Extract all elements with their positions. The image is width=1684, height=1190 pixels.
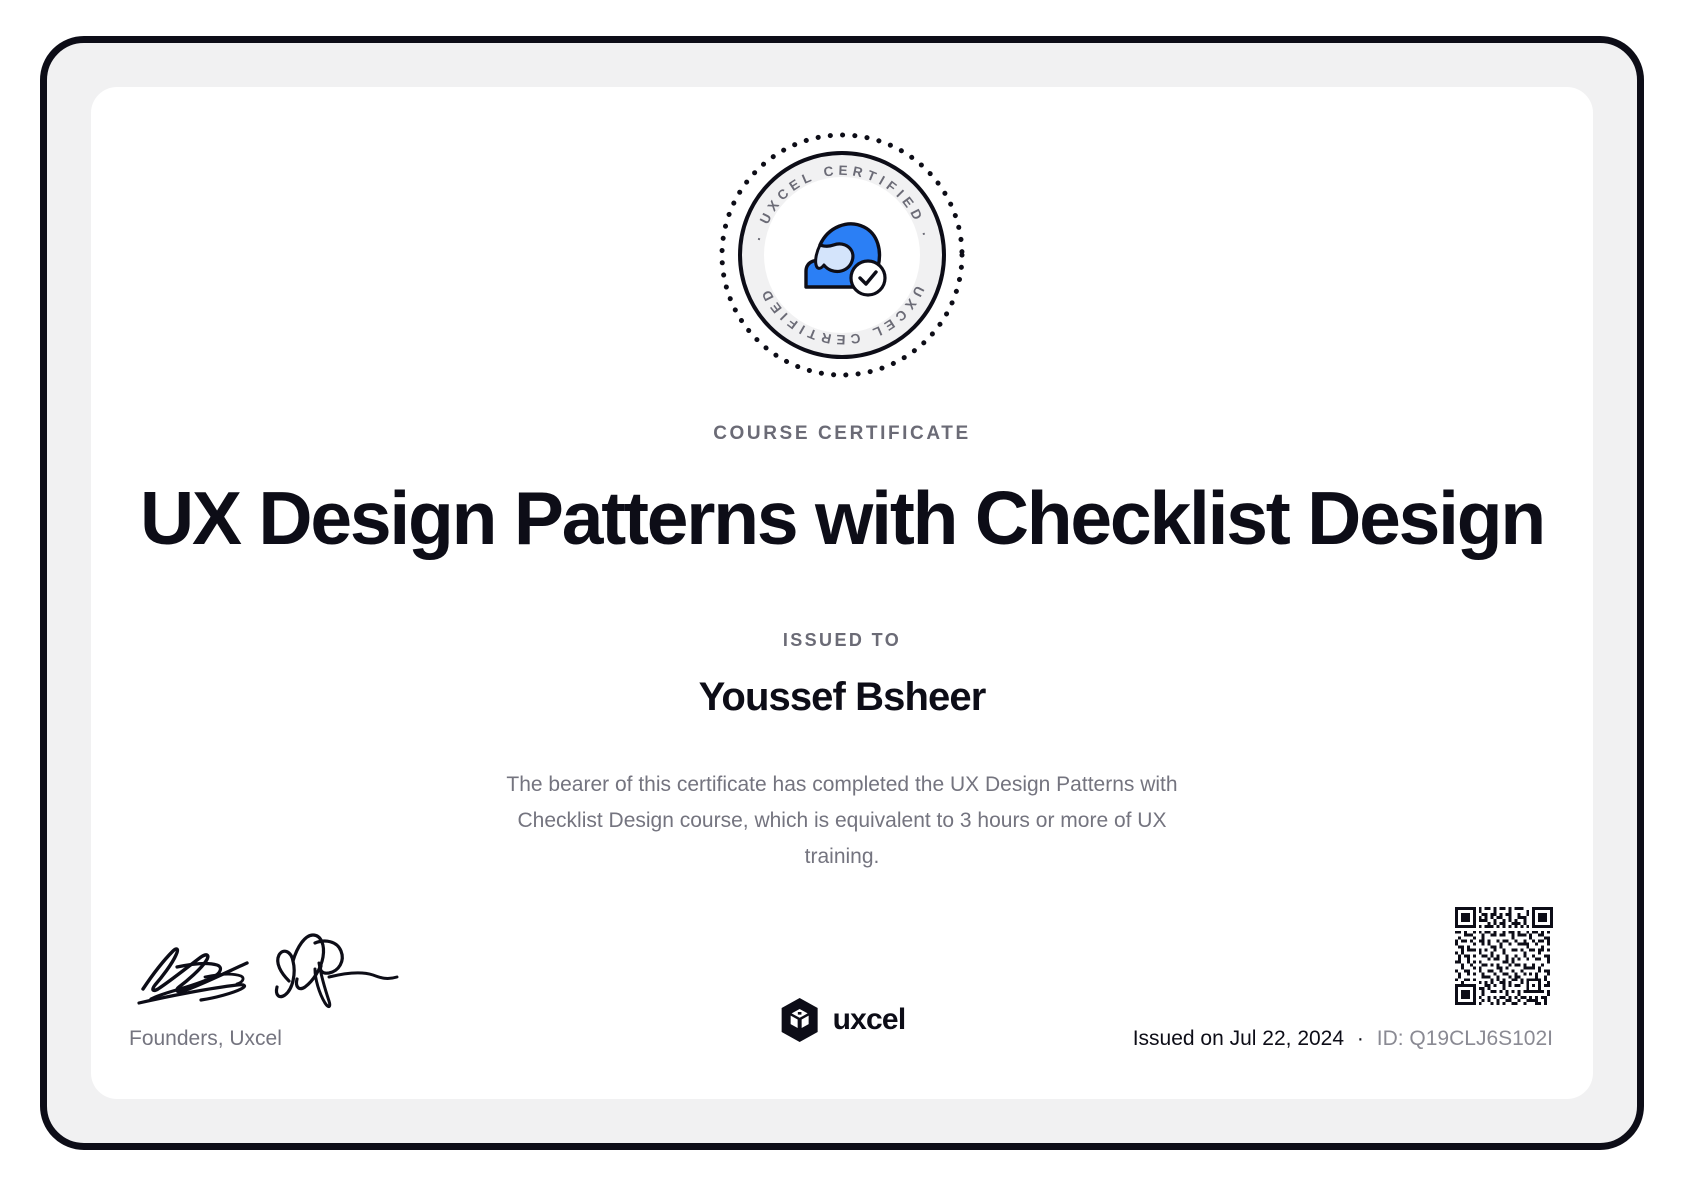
certificate-card: · UXCEL CERTIFIED · UXCEL CERTIFIED (91, 87, 1593, 1099)
certificate-type-label: COURSE CERTIFICATE (91, 423, 1593, 445)
course-title: UX Design Patterns with Checklist Design (91, 479, 1593, 558)
issue-meta-line: Issued on Jul 22, 2024 · ID: Q19CLJ6S102… (1133, 1027, 1553, 1051)
handwritten-signature-icon (129, 933, 419, 1015)
uxcel-wordmark: uxcel (833, 1003, 906, 1037)
uxcel-hexagon-cube-icon (779, 997, 821, 1043)
certificate-footer: Founders, Uxcel uxcel (91, 911, 1593, 1051)
check-badge-circle (851, 261, 885, 295)
certificate-description: The bearer of this certificate has compl… (479, 767, 1205, 875)
recipient-name: Youssef Bsheer (91, 675, 1593, 720)
certificate-frame: · UXCEL CERTIFIED · UXCEL CERTIFIED (40, 36, 1644, 1150)
signature-block: Founders, Uxcel (129, 933, 459, 1051)
issued-to-label: ISSUED TO (91, 630, 1593, 651)
qr-code-icon[interactable] (1455, 907, 1553, 1005)
certificate-meta-block: Issued on Jul 22, 2024 · ID: Q19CLJ6S102… (1133, 907, 1553, 1051)
uxcel-brand-logo: uxcel (779, 997, 906, 1043)
certificate-id: ID: Q19CLJ6S102I (1377, 1027, 1553, 1050)
issued-on-date: Issued on Jul 22, 2024 (1133, 1027, 1344, 1050)
founders-label: Founders, Uxcel (129, 1027, 459, 1051)
wave-inner-crescent (816, 244, 853, 271)
uxcel-certified-seal: · UXCEL CERTIFIED · UXCEL CERTIFIED (716, 129, 968, 381)
meta-separator: · (1350, 1027, 1371, 1050)
